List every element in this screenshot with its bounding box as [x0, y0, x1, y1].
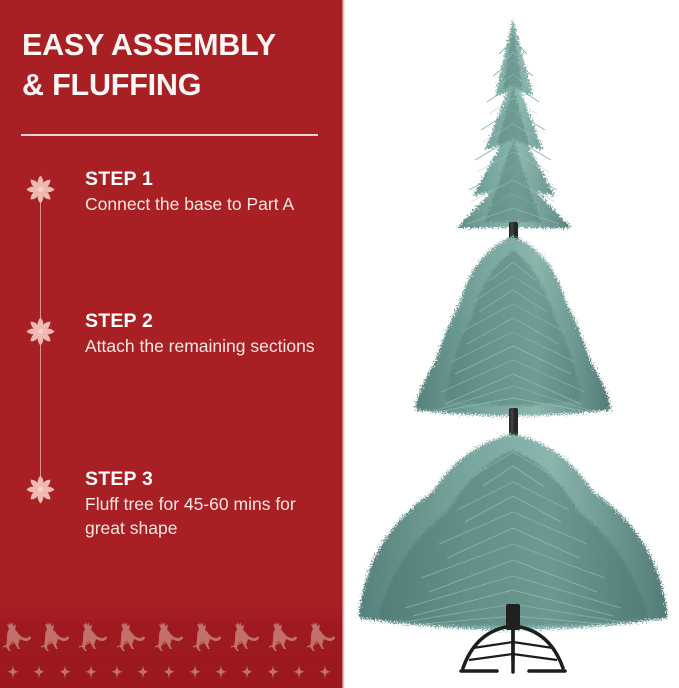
product-infographic: EASY ASSEMBLY & FLUFFING [0, 0, 679, 688]
step-1-description: Connect the base to Part A [85, 193, 335, 216]
step-3-title: STEP 3 [85, 468, 335, 490]
four-point-star-icon [286, 663, 312, 683]
reindeer-icon [266, 617, 304, 655]
tree-middle-section [415, 236, 611, 436]
step-3-text: STEP 3 Fluff tree for 45-60 mins for gre… [85, 468, 335, 540]
step-1-text: STEP 1 Connect the base to Part A [85, 168, 335, 217]
reindeer-icon [152, 617, 190, 655]
snowflake-icon [25, 316, 56, 347]
reindeer-pattern-row [0, 616, 342, 656]
reindeer-icon [190, 617, 228, 655]
step-2-title: STEP 2 [85, 310, 335, 332]
four-point-star-icon [104, 663, 130, 683]
reindeer-icon [38, 617, 76, 655]
reindeer-icon [0, 617, 38, 655]
four-point-star-icon [26, 663, 52, 683]
step-2-text: STEP 2 Attach the remaining sections [85, 310, 335, 359]
step-timeline-connector [40, 196, 41, 502]
four-point-star-icon [234, 663, 260, 683]
snowflake-icon [25, 174, 56, 205]
tree-top-section [457, 18, 571, 248]
four-point-star-icon [52, 663, 78, 683]
step-2-description: Attach the remaining sections [85, 335, 335, 358]
four-point-star-icon [156, 663, 182, 683]
page-title: EASY ASSEMBLY & FLUFFING [22, 26, 322, 105]
four-point-star-icon [182, 663, 208, 683]
tree-stand-collar [506, 604, 520, 630]
tree-bottom-section [359, 434, 667, 630]
star-pattern-row [0, 660, 342, 686]
reindeer-icon [114, 617, 152, 655]
four-point-star-icon [130, 663, 156, 683]
step-1-title: STEP 1 [85, 168, 335, 190]
four-point-star-icon [78, 663, 104, 683]
four-point-star-icon [260, 663, 286, 683]
product-image-panel [345, 0, 679, 688]
snowflake-icon [25, 474, 56, 505]
reindeer-icon [228, 617, 266, 655]
headline-line-1: EASY ASSEMBLY [22, 28, 276, 62]
reindeer-icon [304, 617, 342, 655]
four-point-star-icon [312, 663, 338, 683]
festive-border [0, 606, 342, 688]
reindeer-icon [76, 617, 114, 655]
christmas-tree-illustration [345, 0, 679, 688]
headline-line-2: & FLUFFING [22, 66, 322, 106]
four-point-star-icon [208, 663, 234, 683]
step-3-description: Fluff tree for 45-60 mins for great shap… [85, 493, 335, 540]
four-point-star-icon [0, 663, 26, 683]
instructions-panel: EASY ASSEMBLY & FLUFFING [0, 0, 342, 688]
title-divider [21, 134, 318, 136]
